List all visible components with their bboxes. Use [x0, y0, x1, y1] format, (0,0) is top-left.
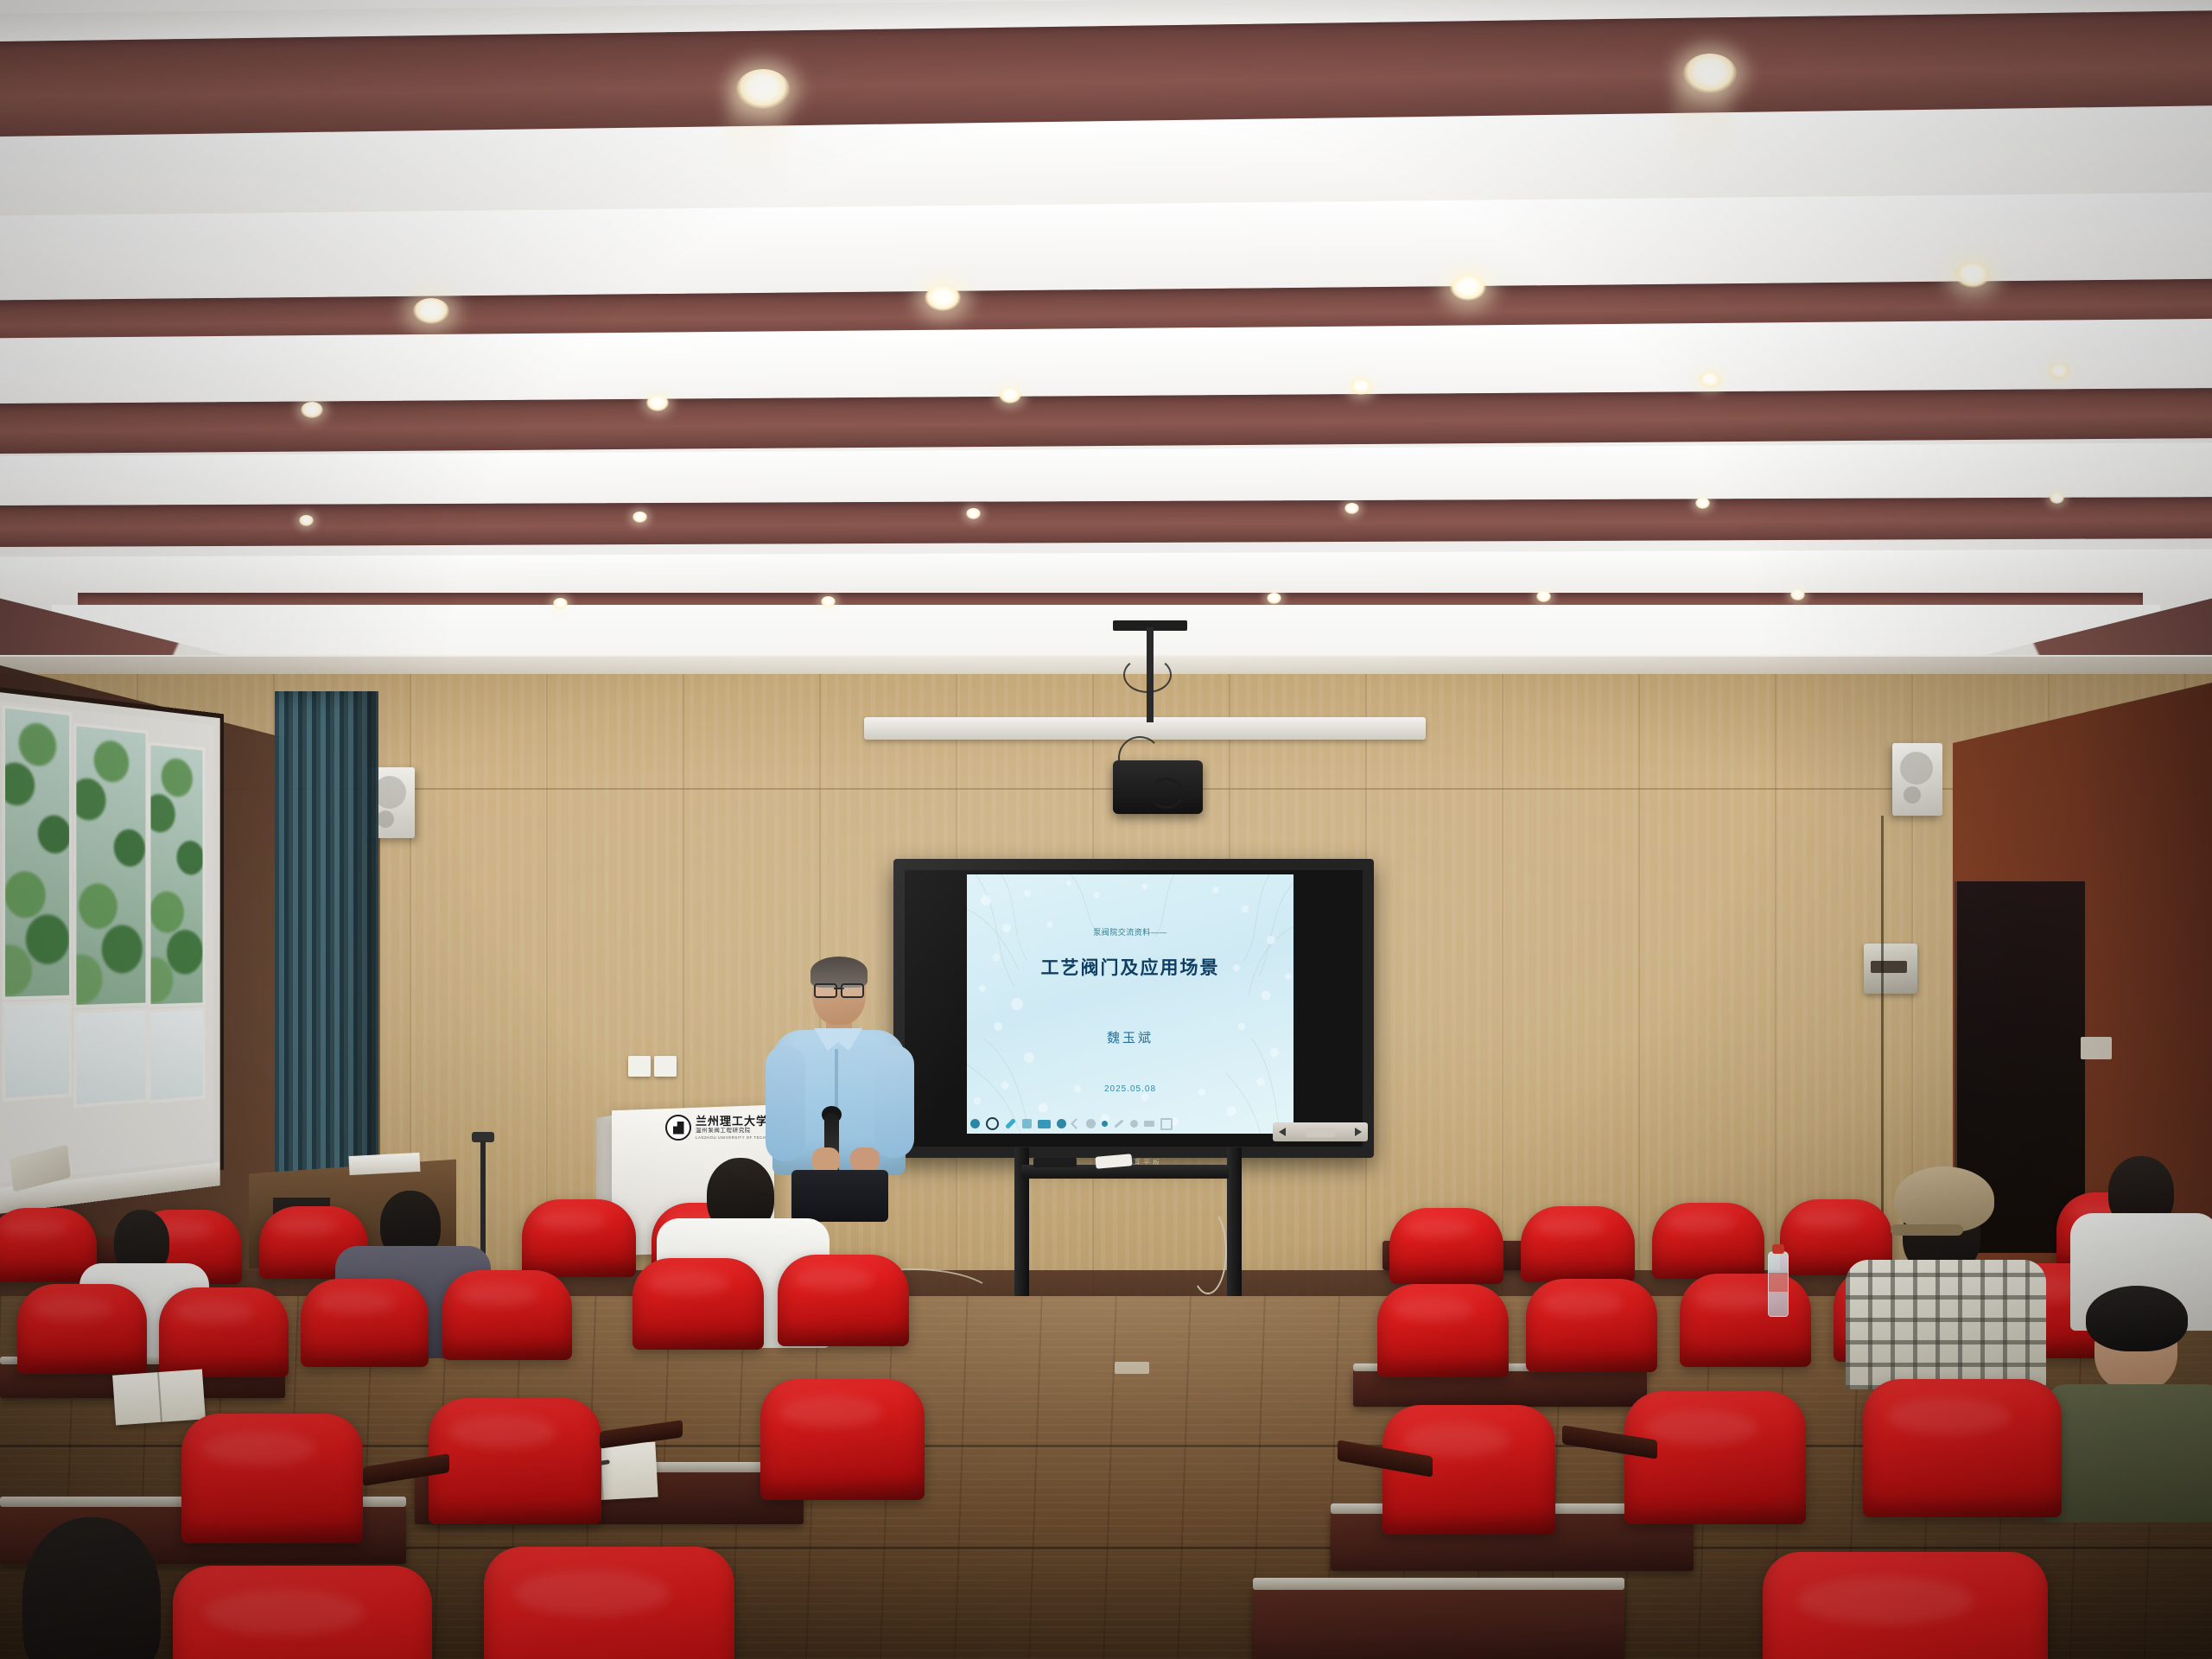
lecture-hall-photo: 泵阀院交流资料—— 工艺阀门及应用场景 魏玉斌 2025.05.08 — [0, 0, 2212, 1659]
seat — [159, 1287, 289, 1377]
cart-post — [1227, 1147, 1242, 1313]
window-pane-glass — [73, 722, 148, 1008]
back-chevron-icon[interactable] — [1071, 1118, 1082, 1129]
window-pane-glass — [148, 741, 205, 1007]
window-pane-frosted — [3, 1000, 73, 1102]
ceiling-downlight — [925, 285, 961, 311]
ceiling-downlight — [553, 598, 568, 609]
star-icon[interactable] — [1130, 1120, 1138, 1128]
seat — [1680, 1274, 1811, 1367]
seat — [1526, 1279, 1657, 1372]
ceiling-downlight — [413, 298, 449, 324]
cap-icon — [1894, 1166, 1994, 1232]
line-icon[interactable] — [1114, 1119, 1123, 1128]
seat — [1389, 1208, 1503, 1284]
cap-icon — [2086, 1286, 2188, 1351]
ceiling-downlight — [301, 402, 323, 418]
ceiling-downlight — [1683, 54, 1737, 93]
ceiling-downlight — [1955, 262, 1991, 288]
ceiling-downlight — [1790, 589, 1805, 601]
seat — [522, 1199, 636, 1277]
seat — [484, 1547, 734, 1659]
ceiling-downlight — [1450, 275, 1486, 301]
seat — [1763, 1552, 2048, 1659]
rect-icon[interactable] — [1144, 1121, 1154, 1127]
audience-member — [2044, 1301, 2212, 1509]
side-table-papers — [348, 1153, 420, 1175]
seat — [1652, 1203, 1764, 1279]
ceiling-downlight — [1699, 372, 1721, 388]
ceiling-downlight — [1267, 593, 1281, 604]
screenshot-icon[interactable] — [1038, 1120, 1051, 1128]
seat — [778, 1255, 909, 1346]
slide-presenter-name: 魏玉斌 — [967, 1028, 1294, 1046]
ceiling-beam-fourth — [0, 497, 2212, 547]
ceiling-downlight — [299, 515, 314, 526]
ceiling-downlight — [2048, 363, 2070, 379]
slide-background-branches — [967, 874, 1294, 1134]
slide-header-text: 泵阀院交流资料—— — [967, 926, 1294, 938]
cursor-icon[interactable] — [970, 1119, 980, 1128]
presentation-slide: 泵阀院交流资料—— 工艺阀门及应用场景 魏玉斌 2025.05.08 — [967, 874, 1294, 1134]
desk-edge — [1253, 1578, 1624, 1590]
cart-remote[interactable] — [1033, 1158, 1077, 1167]
window-pane-frosted — [148, 1007, 205, 1104]
ceiling-downlight — [1695, 498, 1710, 509]
presenter-right-arm — [874, 1046, 914, 1158]
display-nav-strip[interactable] — [1273, 1122, 1368, 1141]
shape-icon[interactable] — [1086, 1119, 1096, 1128]
menu-button[interactable] — [1306, 1128, 1335, 1137]
seat — [632, 1258, 764, 1350]
ceiling-downlight — [821, 596, 836, 607]
palette-icon[interactable] — [1057, 1119, 1066, 1128]
seat — [1377, 1284, 1509, 1377]
open-notebook — [112, 1369, 206, 1425]
window — [0, 691, 220, 1192]
desk — [1253, 1586, 1624, 1659]
seat — [760, 1379, 925, 1500]
seat — [301, 1279, 429, 1367]
whiteboard-toolbar[interactable] — [970, 1117, 1173, 1130]
ceiling-downlight — [1344, 503, 1359, 514]
window-pane-glass — [3, 704, 73, 1000]
ceiling-downlight — [632, 512, 647, 523]
projector-cable — [1149, 778, 1184, 809]
seat — [1521, 1206, 1635, 1282]
presenter-left-arm — [766, 1046, 805, 1161]
ceiling-downlight — [1350, 378, 1372, 395]
power-outlet-icon[interactable] — [628, 1056, 651, 1077]
av-wall-plate-icon[interactable] — [1864, 944, 1917, 994]
frame-icon[interactable] — [1160, 1118, 1173, 1130]
interactive-flat-panel[interactable]: 泵阀院交流资料—— 工艺阀门及应用场景 魏玉斌 2025.05.08 — [893, 859, 1374, 1158]
slide-title-text: 工艺阀门及应用场景 — [967, 954, 1294, 980]
seat — [442, 1270, 572, 1360]
dot-icon[interactable] — [1102, 1121, 1108, 1127]
ceiling-downlight — [646, 395, 669, 411]
audience-member-foreground — [0, 1517, 225, 1659]
pen-icon[interactable] — [1005, 1118, 1016, 1129]
wall-speaker-icon — [1892, 743, 1942, 816]
cart-cable — [1189, 1208, 1227, 1294]
ceiling-downlight — [736, 69, 790, 109]
glasses-icon — [814, 983, 864, 995]
select-ring-icon[interactable] — [986, 1117, 999, 1130]
presenter-right-hand — [850, 1147, 880, 1172]
ceiling-downlight — [966, 508, 981, 519]
right-arrow-icon[interactable] — [1355, 1128, 1362, 1136]
ceiling-downlight — [1536, 591, 1551, 602]
power-outlet-icon[interactable] — [654, 1056, 677, 1077]
seat — [17, 1284, 147, 1374]
projector-cable — [1123, 657, 1172, 693]
eraser-icon[interactable] — [1022, 1119, 1032, 1128]
audience-member — [1846, 1166, 2044, 1365]
left-arrow-icon[interactable] — [1279, 1128, 1286, 1136]
slide-date-text: 2025.05.08 — [967, 1084, 1294, 1094]
seat — [1863, 1379, 2062, 1517]
window-pane-frosted — [73, 1007, 148, 1108]
ceiling-downlight — [999, 387, 1021, 404]
ceiling-downlight — [2050, 493, 2064, 504]
seat — [429, 1398, 601, 1524]
university-crest-icon — [665, 1115, 691, 1141]
water-bottle — [1768, 1251, 1789, 1317]
window-curtain[interactable] — [275, 691, 378, 1218]
